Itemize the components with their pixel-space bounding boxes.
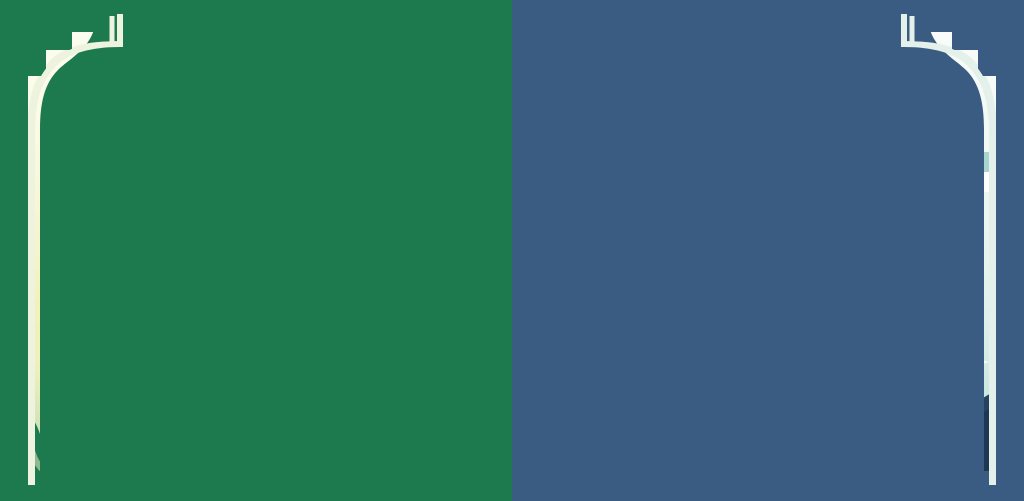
checker-cell [704, 172, 748, 192]
left-date-day-unit: 日（土） [301, 246, 375, 267]
left-date-day: 3 [283, 240, 300, 268]
next-event-block: 【次回】 6月24日（土）も学士会館で全体交流会があります！ [0, 432, 1024, 478]
checker-row [58, 172, 478, 192]
jilla-logo: JiLLA Japan Illustrators Association 東日本… [0, 31, 1024, 58]
left-date-line: 【日時】 2023 年 6月 3日（土） [84, 240, 374, 268]
left-venue-line: 【スケッチ会場】 神奈川県 鎌倉駅周辺 [84, 210, 409, 236]
checker-cell [748, 172, 792, 192]
fee-banner: JILLA 東日本組合員【参加費】無料 [351, 387, 673, 422]
checker-cell [322, 172, 366, 192]
right-title-main: 横浜 [585, 75, 727, 160]
jilla-text: JiLLA [410, 29, 483, 59]
checker-cell [146, 172, 190, 192]
checker-cell [968, 152, 1012, 172]
left-time-range: 13:00〜17:00 [150, 272, 490, 316]
participation-block: どちらか一方のご参加でも OK JILLA 東日本組合員【参加費】無料 [0, 358, 1024, 422]
checker-cell [660, 172, 704, 192]
checker-cell [836, 172, 880, 192]
checker-cell [58, 172, 102, 192]
left-title-suffix-line2: 足 [424, 120, 480, 156]
either-ok-text: どちらか一方のご参加でも OK [0, 358, 1024, 382]
checker-cell [234, 172, 278, 192]
checker-cell [924, 172, 968, 192]
right-date-line: 【日時】 2023 年 6月 3日（土） [570, 240, 860, 268]
jilla-branch-label: 東日本支部 [489, 34, 614, 58]
left-time-note: スケッチ後カフェにて講評タイムあり [150, 319, 490, 340]
next-event-label: 【次回】 [0, 432, 1024, 452]
checker-cell [924, 152, 968, 172]
left-time-block: 13:00〜17:00 スケッチ後カフェにて講評タイムあり [150, 272, 490, 340]
checker-cell [880, 172, 924, 192]
right-event-title: 横浜交流会 [585, 82, 910, 154]
right-date-month: 6 [728, 240, 745, 268]
right-date-day: 3 [769, 240, 786, 268]
checker-cell [190, 172, 234, 192]
left-date-month-unit: 月 [259, 246, 284, 267]
capacity-badge: 先着 10名 [421, 155, 487, 211]
left-title-main: 鎌倉 [78, 75, 220, 160]
right-date-day-unit: 日（土） [787, 246, 861, 267]
right-date-prefix: 【日時】 2023 年 [570, 246, 728, 267]
right-time-range: 17:45〜20:00 [545, 272, 885, 316]
badge-line-1: 先着 [439, 165, 469, 182]
jilla-tagline: Japan Illustrators Association [411, 59, 534, 67]
right-time-note: 普段聞けないクリエイター同士の情報交換 [545, 319, 885, 340]
event-flyer: JiLLA Japan Illustrators Association 東日本… [0, 0, 1024, 501]
checker-cell [968, 172, 1012, 192]
checker-cell [102, 172, 146, 192]
right-date-month-unit: 月 [745, 246, 770, 267]
left-date-month: 6 [242, 240, 259, 268]
checker-cell [792, 172, 836, 192]
badge-line-2: 10名 [434, 182, 475, 201]
logo-dot-icon [425, 28, 431, 34]
right-time-block: 17:45〜20:00 普段聞けないクリエイター同士の情報交換 [545, 272, 885, 340]
right-title-accent: 交流会 [727, 86, 910, 159]
checker-cell [366, 172, 410, 192]
jilla-wordmark: JiLLA Japan Illustrators Association [410, 31, 483, 58]
left-date-prefix: 【日時】 2023 年 [84, 246, 242, 267]
checker-cell [572, 172, 616, 192]
left-title-suffix: 遠 足 [424, 84, 480, 156]
next-event-text: 6月24日（土）も学士会館で全体交流会があります！ [0, 454, 1024, 478]
checker-cell [278, 172, 322, 192]
checker-cell [616, 172, 660, 192]
left-event-title: 鎌倉スケッチ [78, 82, 480, 154]
right-venue-line: 【交流会会場】 神奈川県 横浜駅飲食店 [570, 210, 895, 236]
checker-row [572, 172, 972, 192]
